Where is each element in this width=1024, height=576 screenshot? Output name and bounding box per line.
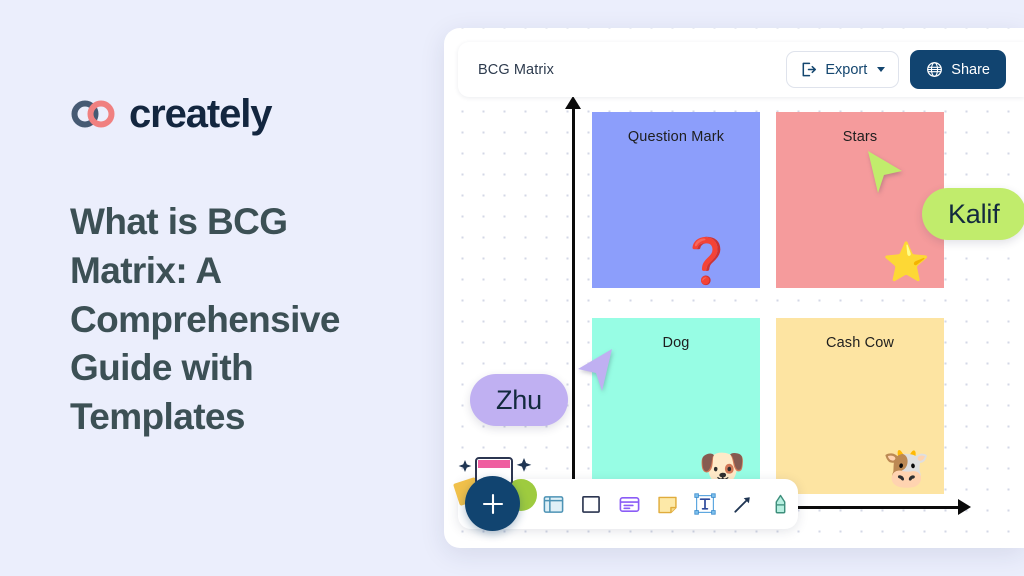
quadrant-label: Dog xyxy=(592,335,760,351)
collaborator-name: Zhu xyxy=(496,385,542,416)
text-tool-button[interactable] xyxy=(687,486,722,522)
plus-icon xyxy=(480,491,506,517)
export-label: Export xyxy=(825,62,867,78)
y-axis-arrowhead xyxy=(565,96,581,109)
text-t-icon xyxy=(693,492,717,516)
quadrant-label: Question Mark xyxy=(592,129,760,145)
card-icon xyxy=(618,493,641,516)
star-icon: ⭐ xyxy=(883,244,930,282)
confetti-star-icon xyxy=(516,458,532,474)
cow-icon: 🐮 xyxy=(883,450,930,488)
x-axis-arrowhead xyxy=(958,499,971,515)
highlighter-tool-button[interactable] xyxy=(763,486,798,522)
sticky-note-icon xyxy=(656,493,679,516)
creately-wordmark: creately xyxy=(129,94,271,134)
square-icon xyxy=(580,493,602,515)
collaborator-name: Kalif xyxy=(948,199,1000,230)
collaborator-name-pill: Zhu xyxy=(470,374,568,426)
share-button[interactable]: Share xyxy=(910,50,1006,89)
y-axis-line xyxy=(572,102,575,509)
sticky-note-tool-button[interactable] xyxy=(650,486,685,522)
marketing-panel: creately What is BCG Matrix: A Comprehen… xyxy=(0,0,444,576)
export-button[interactable]: Export xyxy=(786,51,899,88)
chevron-down-icon xyxy=(877,67,885,72)
share-label: Share xyxy=(951,62,990,78)
quadrant-cash-cow[interactable]: Cash Cow 🐮 xyxy=(776,318,944,494)
shape-tool-button[interactable] xyxy=(574,486,609,522)
document-title[interactable]: BCG Matrix xyxy=(478,62,786,78)
quadrant-dog[interactable]: Dog 🐶 xyxy=(592,318,760,494)
arrow-diagonal-icon xyxy=(731,493,754,516)
creately-mark-icon xyxy=(70,100,116,128)
add-shape-fab-group xyxy=(448,454,544,536)
quadrant-stars[interactable]: Stars ⭐ xyxy=(776,112,944,288)
quadrant-question-mark[interactable]: Question Mark ❓ xyxy=(592,112,760,288)
cursor-arrow-icon xyxy=(574,346,616,394)
creately-logo: creately xyxy=(70,92,444,136)
add-shape-button[interactable] xyxy=(465,476,520,531)
export-icon xyxy=(800,61,817,78)
connector-tool-button[interactable] xyxy=(725,486,760,522)
globe-icon xyxy=(926,61,943,78)
quadrant-label: Cash Cow xyxy=(776,335,944,351)
page-title: What is BCG Matrix: A Comprehensive Guid… xyxy=(70,198,400,442)
question-mark-icon: ❓ xyxy=(679,240,734,284)
app-topbar: BCG Matrix Export Share xyxy=(458,42,1024,97)
panel-layout-icon xyxy=(542,493,565,516)
highlighter-pen-icon xyxy=(769,493,792,516)
creately-app-window: Question Mark ❓ Stars ⭐ Dog 🐶 Cash Cow 🐮… xyxy=(444,28,1024,548)
quadrant-label: Stars xyxy=(776,129,944,145)
cursor-arrow-icon xyxy=(864,148,906,196)
collaborator-name-pill: Kalif xyxy=(922,188,1024,240)
confetti-star-icon xyxy=(458,460,472,474)
card-tool-button[interactable] xyxy=(612,486,647,522)
